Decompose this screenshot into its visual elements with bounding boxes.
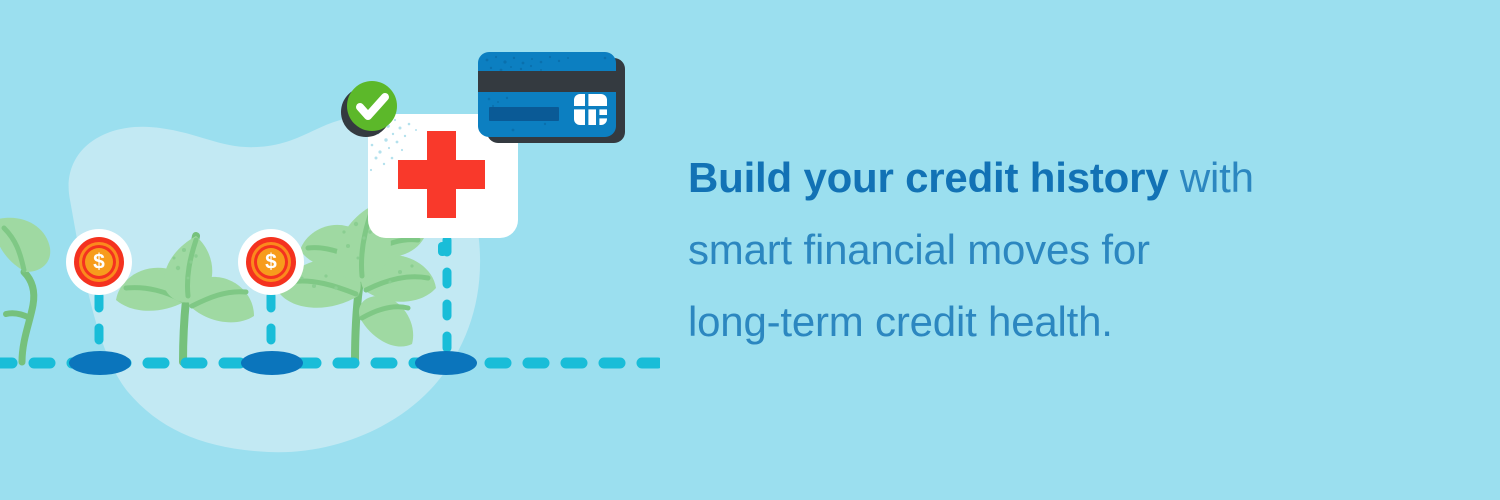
headline-strong-text: Build your credit history bbox=[688, 154, 1168, 201]
coin-dollar-sign-2: $ bbox=[265, 251, 277, 274]
credit-card-magnetic-stripe bbox=[478, 71, 616, 92]
headline-block: Build your credit history with smart fin… bbox=[688, 142, 1388, 358]
plant-sprout-small bbox=[0, 218, 50, 362]
coin-badge-1: $ bbox=[66, 229, 132, 295]
credit-growth-illustration: $ $ bbox=[0, 0, 660, 500]
credit-card bbox=[478, 52, 625, 143]
cross-card-bottom-accent bbox=[438, 242, 447, 256]
soil-mound-3 bbox=[415, 351, 477, 375]
credit-card-signature-strip bbox=[489, 107, 559, 121]
headline-line-1: Build your credit history with bbox=[688, 142, 1388, 214]
headline-line-1-rest: with bbox=[1168, 154, 1253, 201]
credit-card-chip-icon bbox=[574, 94, 607, 125]
headline-line-2: smart financial moves for bbox=[688, 214, 1388, 286]
soil-mound-1 bbox=[69, 351, 131, 375]
coin-dollar-sign-1: $ bbox=[93, 251, 105, 274]
sprout-lower-leaf-stem bbox=[6, 313, 30, 318]
headline-line-3: long-term credit health. bbox=[688, 286, 1388, 358]
coin-badge-2: $ bbox=[238, 229, 304, 295]
soil-mound-2 bbox=[241, 351, 303, 375]
credit-history-banner: $ $ bbox=[0, 0, 1500, 500]
